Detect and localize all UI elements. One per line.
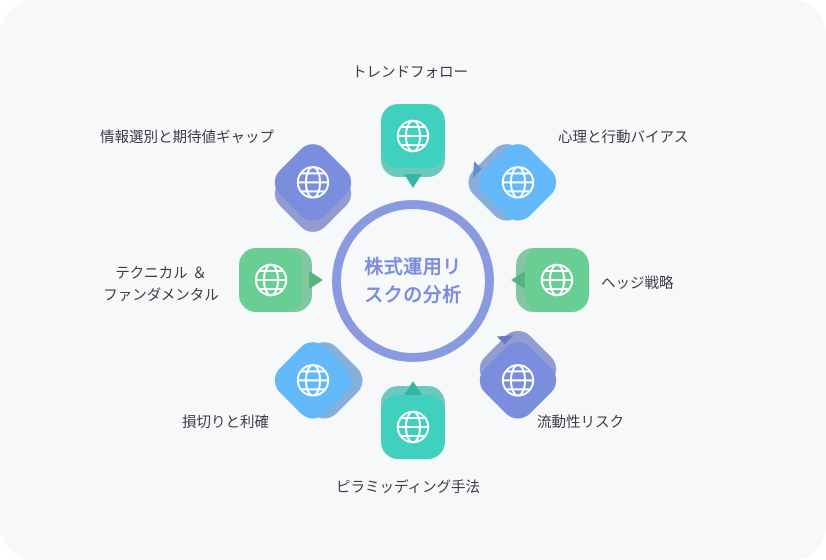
node-pyramiding-method[interactable] — [381, 395, 453, 467]
node-tail — [511, 271, 525, 289]
label-cut-loss-take-profit: 損切りと利確 — [182, 412, 269, 434]
node-cut-loss-take-profit[interactable] — [262, 335, 364, 437]
node-trend-follow[interactable] — [381, 104, 453, 176]
globe-icon — [239, 248, 303, 312]
label-pyramiding-method: ピラミッディング手法 — [336, 477, 480, 499]
center-hub-label: 株式運用リスクの分析 — [359, 253, 467, 309]
node-psychology-behavior-bias[interactable] — [467, 137, 569, 239]
globe-icon — [486, 348, 550, 412]
node-tail — [404, 381, 422, 395]
globe-icon — [525, 248, 589, 312]
node-technical-and-fundamental[interactable] — [239, 248, 311, 320]
globe-icon — [381, 395, 445, 459]
node-tail — [309, 271, 323, 289]
globe-icon — [381, 104, 445, 168]
globe-icon — [281, 150, 345, 214]
label-line-2: ファンダメンタル — [98, 285, 224, 307]
center-hub: 株式運用リスクの分析 — [332, 200, 494, 362]
node-info-selection-expectation-gap[interactable] — [262, 137, 364, 239]
label-trend-follow: トレンドフォロー — [352, 62, 468, 84]
label-info-selection-expectation-gap: 情報選別と期待値ギャップ — [100, 127, 274, 149]
globe-icon — [486, 150, 550, 214]
label-line-1: テクニカル ＆ — [98, 263, 224, 285]
node-hedge-strategy[interactable] — [525, 248, 597, 320]
label-hedge-strategy: ヘッジ戦略 — [601, 273, 674, 295]
globe-icon — [281, 348, 345, 412]
node-tail — [404, 174, 422, 188]
label-technical-and-fundamental: テクニカル ＆ ファンダメンタル — [98, 263, 224, 308]
label-liquidity-risk: 流動性リスク — [537, 412, 624, 434]
diagram-canvas: 株式運用リスクの分析 トレンドフォロー 心理と行動バイアス ヘッジ戦略 流動性リ… — [0, 0, 826, 560]
label-psychology-behavior-bias: 心理と行動バイアス — [558, 127, 689, 149]
